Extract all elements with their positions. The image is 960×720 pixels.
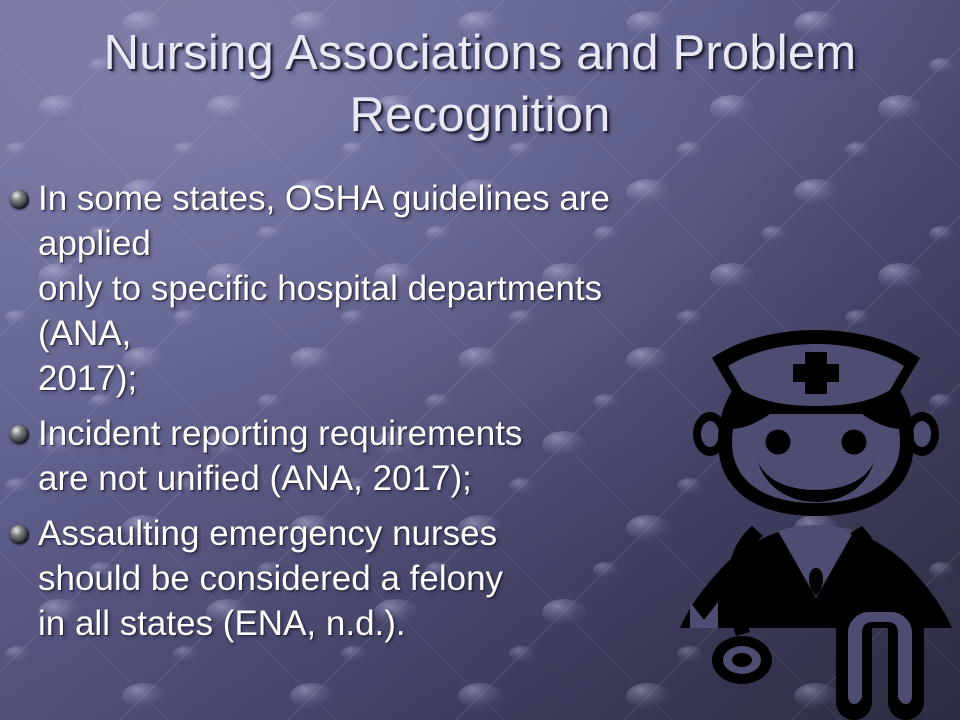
bullet-text: Assaulting emergency nurses should be co… (38, 511, 700, 646)
bullet-text: In some states, OSHA guidelines are appl… (38, 176, 700, 401)
sphere-bullet-icon (10, 190, 29, 209)
presentation-slide: Nursing Associations and Problem Recogni… (0, 0, 960, 720)
bullet-text: Incident reporting requirements are not … (38, 411, 700, 501)
slide-title: Nursing Associations and Problem Recogni… (0, 22, 960, 146)
bullet-item: In some states, OSHA guidelines are appl… (10, 176, 700, 401)
nurse-with-stethoscope-icon (666, 330, 960, 720)
bullet-item: Incident reporting requirements are not … (10, 411, 700, 501)
slide-body: In some states, OSHA guidelines are appl… (10, 176, 700, 656)
bullet-item: Assaulting emergency nurses should be co… (10, 511, 700, 646)
sphere-bullet-icon (10, 425, 29, 444)
slide-title-text: Nursing Associations and Problem Recogni… (0, 22, 960, 146)
sphere-bullet-icon (10, 525, 29, 544)
